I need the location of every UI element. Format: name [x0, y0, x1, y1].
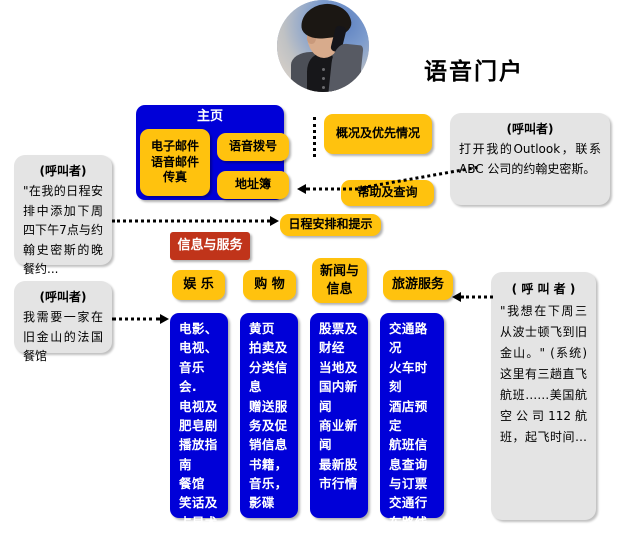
category-travel[interactable]: 旅游服务	[383, 270, 453, 300]
list-item: 商业新闻	[319, 416, 361, 455]
list-item: 交通路况	[389, 319, 437, 358]
category-entertainment-label: 娱 乐	[183, 276, 214, 293]
callout-left-bottom-speaker: (呼叫者)	[23, 288, 103, 307]
callout-left-top-text: "在我的日程安排中添加下周四下午7点与约翰史密斯的晚餐约...	[23, 182, 103, 279]
category-travel-label: 旅游服务	[392, 276, 444, 293]
callout-left-bottom-text: 我需要一家在旧金山的法国餐馆	[23, 308, 103, 366]
category-news-label-1: 新闻与	[320, 263, 359, 280]
category-news[interactable]: 新闻与 信息	[312, 258, 367, 303]
callout-left-bottom: (呼叫者) 我需要一家在旧金山的法国餐馆	[14, 281, 112, 353]
callout-left-top-speaker: (呼叫者)	[23, 162, 103, 181]
voice-dial-box[interactable]: 语音拨号	[217, 133, 289, 161]
callout-left-top: (呼叫者) "在我的日程安排中添加下周四下午7点与约翰史密斯的晚餐约...	[14, 155, 112, 265]
category-shopping[interactable]: 购 物	[243, 270, 296, 300]
list-item: 酒店预定	[389, 397, 437, 436]
overview-box[interactable]: 概况及优先情况	[324, 114, 432, 154]
list-item: 当地及国内新闻	[319, 358, 361, 416]
schedule-box[interactable]: 日程安排和提示	[280, 214, 381, 236]
home-label: 主页	[197, 108, 223, 125]
info-services-box[interactable]: 信息与服务	[170, 232, 250, 260]
info-services-label: 信息与服务	[177, 237, 242, 254]
list-item: 电影、电视、音乐会.	[179, 319, 221, 397]
schedule-label: 日程安排和提示	[288, 217, 372, 233]
callout-right-bottom-speaker: ( 呼 叫 者 )	[500, 279, 587, 300]
list-item: 赠送服务及促销信息	[249, 397, 291, 455]
list-item: 黄页	[249, 319, 291, 338]
arrow-left-top-to-schedule	[112, 215, 282, 227]
callout-right-top: (呼叫者) 打开我的Outlook，联系 ABC 公司的约翰史密斯。	[450, 113, 610, 205]
list-item: 拍卖及分类信息	[249, 338, 291, 396]
address-book-label: 地址簿	[235, 177, 271, 193]
list-item: 书籍，音乐，影碟	[249, 455, 291, 513]
voice-portal-diagram: 语音门户 主页 电子邮件 语音邮件 传真 语音拨号 地址簿 概况及优先情况 帮助…	[0, 0, 622, 530]
list-item: 笑话及占星术	[179, 493, 221, 532]
connector-home-to-overview	[313, 117, 316, 157]
list-item: 电视及肥皂剧播放指南	[179, 397, 221, 475]
category-shopping-label: 购 物	[254, 276, 285, 293]
arrow-left-bottom-to-entertainment	[112, 313, 172, 325]
photo-button-3	[322, 86, 325, 89]
news-column[interactable]: 股票及财经 当地及国内新闻 商业新闻 最新股市行情	[310, 313, 368, 518]
caller-photo	[277, 0, 369, 92]
messaging-line-3: 传真	[163, 170, 187, 186]
messaging-line-2: 语音邮件	[151, 155, 199, 171]
photo-button-1	[322, 68, 325, 71]
callout-right-top-speaker: (呼叫者)	[459, 120, 601, 139]
entertainment-column[interactable]: 电影、电视、音乐会. 电视及肥皂剧播放指南 餐馆 笑话及占星术	[170, 313, 228, 518]
page-title: 语音门户	[424, 52, 524, 86]
list-item: 餐馆	[179, 474, 221, 493]
arrow-right-bottom-to-travel	[452, 291, 496, 303]
callout-right-bottom: ( 呼 叫 者 ) "我想在下周三从波士顿飞到旧金山。" (系统) 这里有三趟直…	[491, 272, 596, 520]
list-item: 最新股市行情	[319, 455, 361, 494]
callout-right-bottom-text: "我想在下周三从波士顿飞到旧金山。" (系统) 这里有三趟直飞航班……美国航空公…	[500, 301, 587, 448]
travel-column[interactable]: 交通路况 火车时刻 酒店预定 航班信息查询与订票 交通行车路线查询	[380, 313, 444, 518]
messaging-line-1: 电子邮件	[151, 139, 199, 155]
address-book-box[interactable]: 地址簿	[217, 171, 289, 199]
callout-right-top-text: 打开我的Outlook，联系 ABC 公司的约翰史密斯。	[459, 140, 601, 179]
list-item: 航班信息查询与订票	[389, 435, 437, 493]
list-item: 火车时刻	[389, 358, 437, 397]
shopping-column[interactable]: 黄页 拍卖及分类信息 赠送服务及促销信息 书籍，音乐，影碟	[240, 313, 298, 518]
messaging-box[interactable]: 电子邮件 语音邮件 传真	[140, 129, 210, 196]
photo-button-2	[322, 77, 325, 80]
list-item: 交通行车路线查询	[389, 493, 437, 551]
category-news-label-2: 信息	[326, 281, 352, 298]
overview-label: 概况及优先情况	[336, 126, 420, 142]
category-entertainment[interactable]: 娱 乐	[172, 270, 225, 300]
voice-dial-label: 语音拨号	[229, 139, 277, 155]
list-item: 股票及财经	[319, 319, 361, 358]
